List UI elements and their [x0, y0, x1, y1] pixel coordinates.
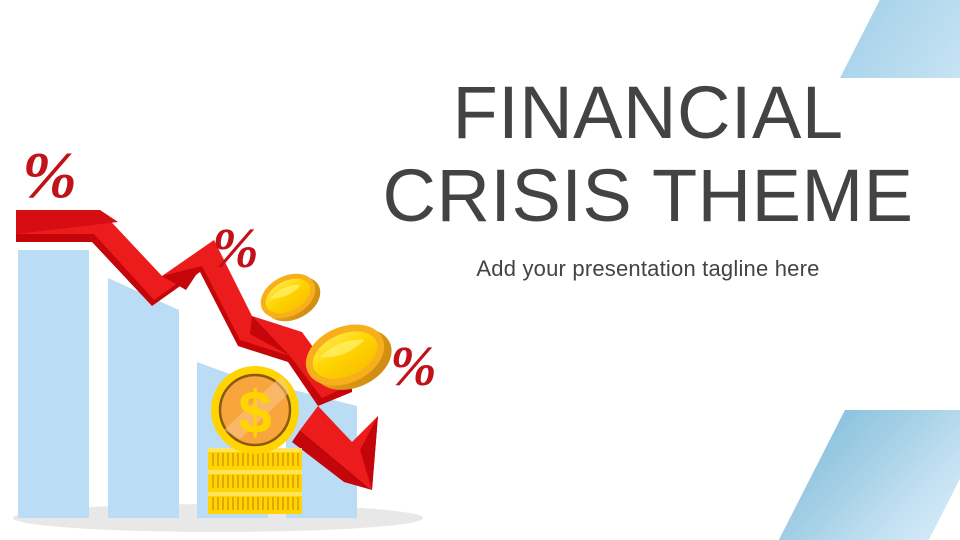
stack-coin-bottom [208, 492, 302, 514]
bar-1 [18, 250, 89, 518]
percent-symbol-2: % [212, 218, 259, 280]
bar-2 [108, 278, 179, 518]
dollar-sign: $ [238, 379, 271, 446]
page-subtitle[interactable]: Add your presentation tagline here [378, 256, 918, 282]
slide-canvas: $ % % % FINANCIAL CRISIS THEME Add your … [0, 0, 960, 540]
top-right-parallelogram-decoration [840, 0, 960, 78]
percent-symbol-1: % [22, 139, 77, 212]
dollar-coin: $ [211, 366, 299, 454]
percent-symbol-3: % [390, 336, 437, 398]
stack-coin-middle [208, 470, 302, 492]
bottom-right-parallelogram-decoration [778, 410, 960, 540]
title-block: FINANCIAL CRISIS THEME Add your presenta… [378, 72, 918, 282]
page-title[interactable]: FINANCIAL CRISIS THEME [378, 72, 918, 238]
